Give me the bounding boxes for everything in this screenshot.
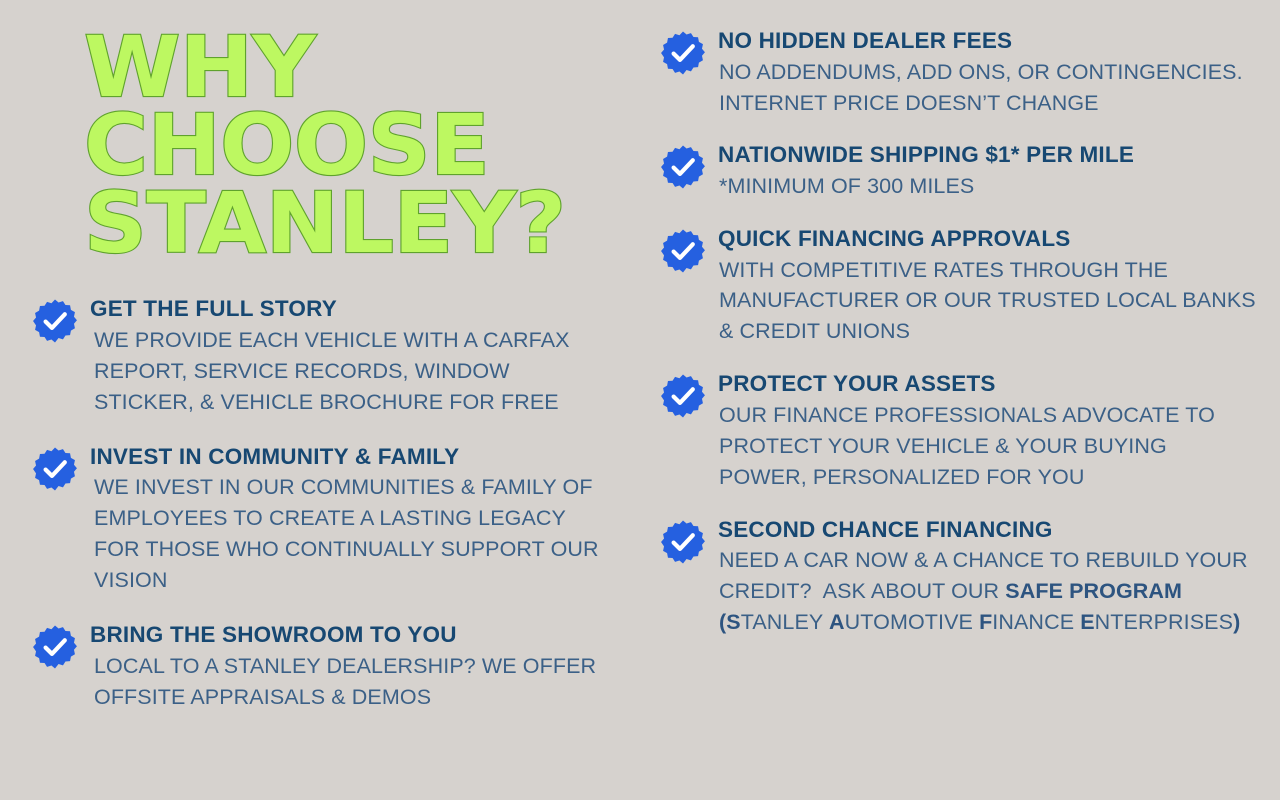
benefit-body: NO HIDDEN DEALER FEES NO ADDENDUMS, ADD … <box>718 28 1256 118</box>
page-title: WHY CHOOSE STANLEY? <box>84 28 631 262</box>
check-badge-icon <box>660 144 706 190</box>
benefit-item-quick-financing-approvals: QUICK FINANCING APPROVALS WITH COMPETITI… <box>660 226 1256 347</box>
benefit-description: WITH COMPETITIVE RATES THROUGH THE MANUF… <box>718 255 1256 348</box>
benefit-title: INVEST IN COMMUNITY & FAMILY <box>90 444 610 471</box>
benefit-title: PROTECT YOUR ASSETS <box>718 371 1256 398</box>
benefit-body: PROTECT YOUR ASSETS OUR FINANCE PROFESSI… <box>718 371 1256 492</box>
benefit-body: GET THE FULL STORY WE PROVIDE EACH VEHIC… <box>90 296 610 417</box>
check-badge-icon <box>660 519 706 565</box>
benefit-item-get-the-full-story: GET THE FULL STORY WE PROVIDE EACH VEHIC… <box>32 296 610 417</box>
benefit-description: WE INVEST IN OUR COMMUNITIES & FAMILY OF… <box>90 472 610 596</box>
benefit-title: GET THE FULL STORY <box>90 296 610 323</box>
benefit-title: SECOND CHANCE FINANCING <box>718 517 1256 544</box>
benefit-item-bring-the-showroom-to-you: BRING THE SHOWROOM TO YOU LOCAL TO A STA… <box>32 622 610 712</box>
why-choose-stanley-poster: WHY CHOOSE STANLEY? GET THE FULL STORY W… <box>0 0 1280 800</box>
benefit-title: BRING THE SHOWROOM TO YOU <box>90 622 610 649</box>
benefit-item-invest-in-community-and-family: INVEST IN COMMUNITY & FAMILY WE INVEST I… <box>32 444 610 596</box>
benefit-item-protect-your-assets: PROTECT YOUR ASSETS OUR FINANCE PROFESSI… <box>660 371 1256 492</box>
check-badge-icon <box>32 624 78 670</box>
left-column: WHY CHOOSE STANLEY? GET THE FULL STORY W… <box>0 0 640 739</box>
check-badge-icon <box>32 298 78 344</box>
benefit-title: NATIONWIDE SHIPPING $1* PER MILE <box>718 142 1256 169</box>
benefit-item-no-hidden-dealer-fees: NO HIDDEN DEALER FEES NO ADDENDUMS, ADD … <box>660 28 1256 118</box>
benefit-title: NO HIDDEN DEALER FEES <box>718 28 1256 55</box>
check-badge-icon <box>660 30 706 76</box>
benefit-item-nationwide-shipping: NATIONWIDE SHIPPING $1* PER MILE *MINIMU… <box>660 142 1256 202</box>
benefit-description: WE PROVIDE EACH VEHICLE WITH A CARFAX RE… <box>90 325 610 418</box>
check-badge-icon <box>660 373 706 419</box>
benefit-body: BRING THE SHOWROOM TO YOU LOCAL TO A STA… <box>90 622 610 712</box>
right-column: NO HIDDEN DEALER FEES NO ADDENDUMS, ADD … <box>640 0 1280 662</box>
benefit-title: QUICK FINANCING APPROVALS <box>718 226 1256 253</box>
check-badge-icon <box>32 446 78 492</box>
benefit-description: NO ADDENDUMS, ADD ONS, OR CONTINGENCIES.… <box>718 57 1256 119</box>
benefit-body: INVEST IN COMMUNITY & FAMILY WE INVEST I… <box>90 444 610 596</box>
benefit-description: OUR FINANCE PROFESSIONALS ADVOCATE TO PR… <box>718 400 1256 493</box>
benefit-item-second-chance-financing: SECOND CHANCE FINANCING NEED A CAR NOW &… <box>660 517 1256 638</box>
benefit-description: LOCAL TO A STANLEY DEALERSHIP? WE OFFER … <box>90 651 610 713</box>
check-badge-icon <box>660 228 706 274</box>
benefit-body: SECOND CHANCE FINANCING NEED A CAR NOW &… <box>718 517 1256 638</box>
benefit-description: *MINIMUM OF 300 MILES <box>718 171 1256 202</box>
benefit-description: NEED A CAR NOW & A CHANCE TO REBUILD YOU… <box>718 545 1256 638</box>
benefit-body: QUICK FINANCING APPROVALS WITH COMPETITI… <box>718 226 1256 347</box>
benefit-body: NATIONWIDE SHIPPING $1* PER MILE *MINIMU… <box>718 142 1256 202</box>
